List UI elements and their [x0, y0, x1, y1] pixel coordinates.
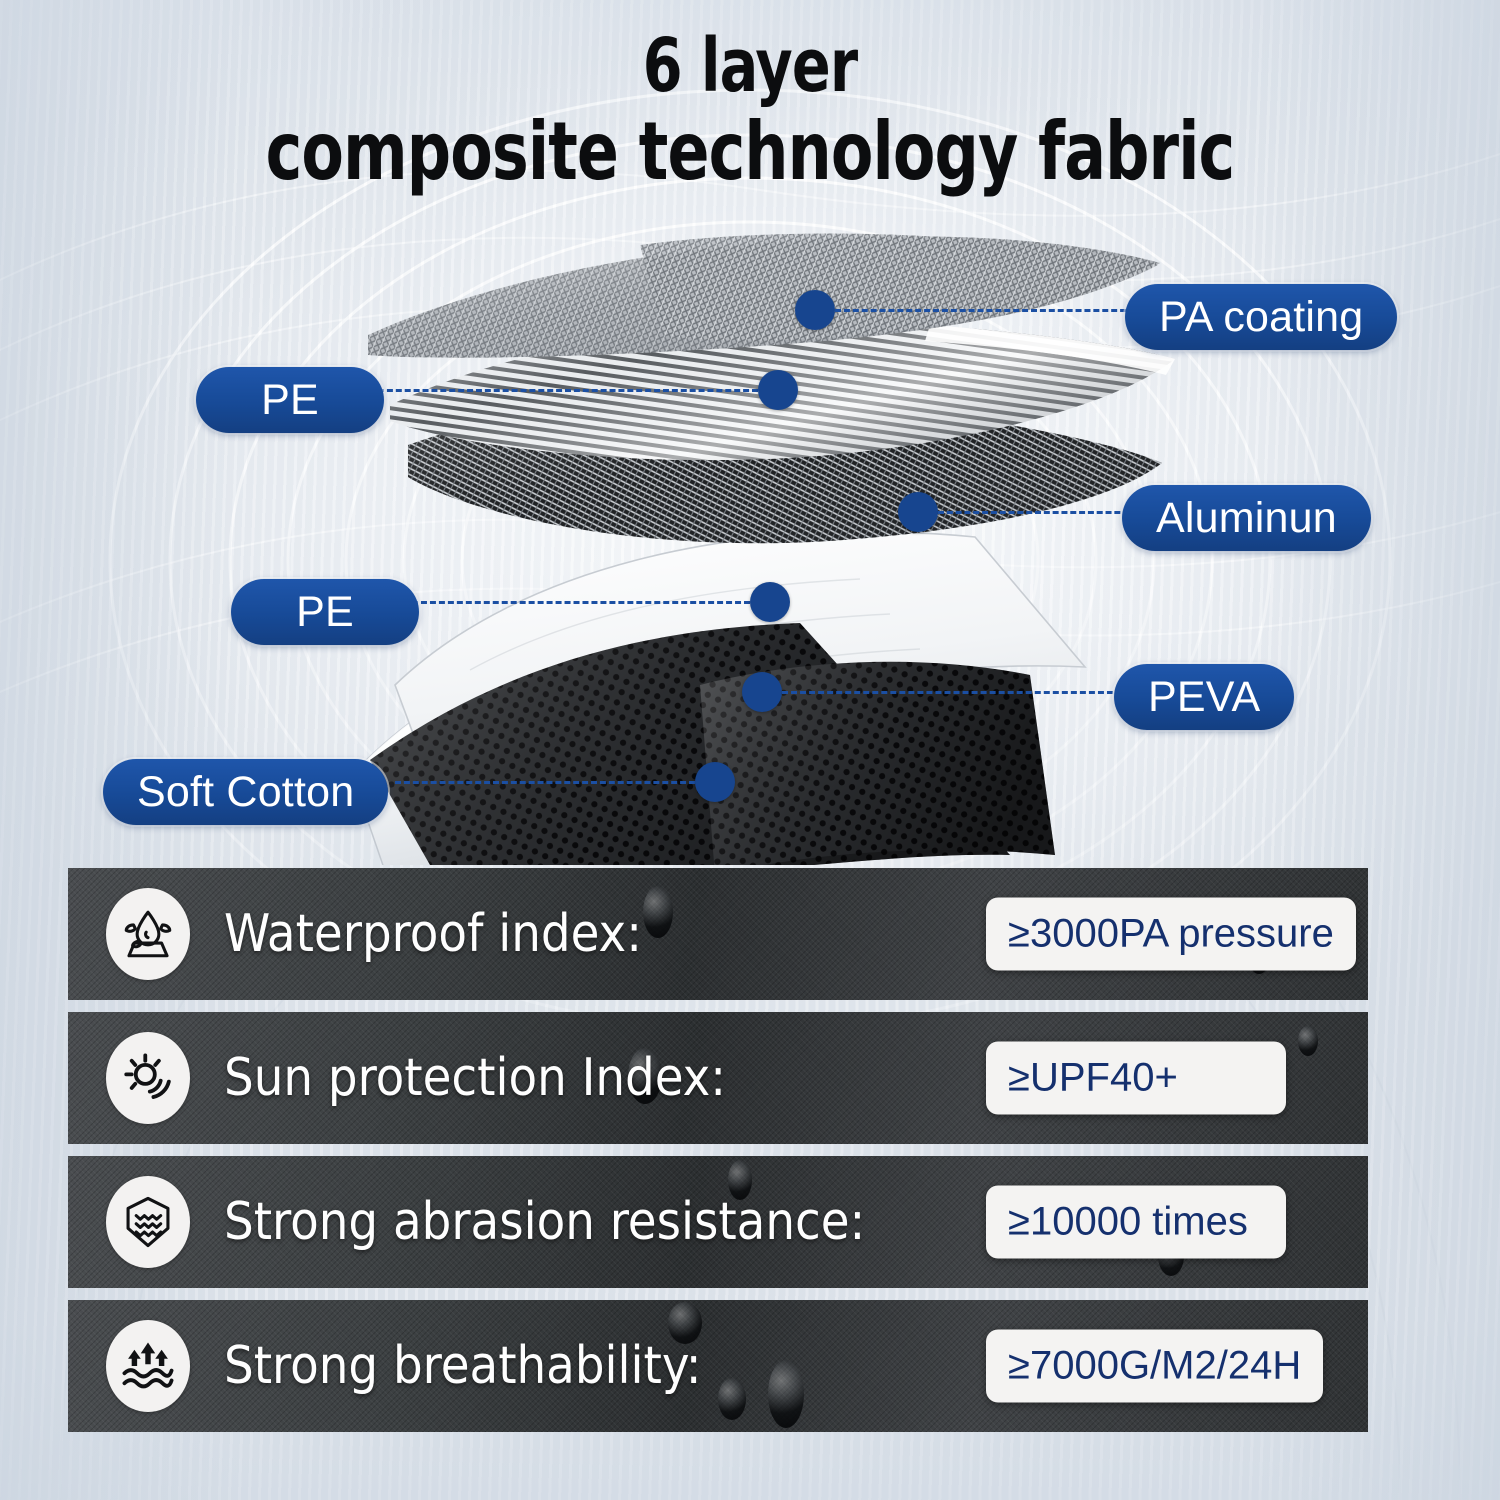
connector-dot	[795, 290, 835, 330]
feature-value-sun-protection: ≥UPF40+	[986, 1042, 1286, 1115]
page-title: 6 layer composite technology fabric	[0, 30, 1500, 191]
layer-label-soft-cotton[interactable]: Soft Cotton	[103, 759, 388, 825]
feature-value-waterproof: ≥3000PA pressure	[986, 898, 1356, 971]
connector-dash	[782, 691, 1122, 694]
connector-dot	[750, 582, 790, 622]
water-droplet-decoration	[768, 1360, 804, 1428]
connector-pe-top	[378, 383, 798, 397]
layer-label-pe-top[interactable]: PE	[196, 367, 384, 433]
infographic-canvas: 6 layer composite technology fabric	[0, 0, 1500, 1500]
callout-aluminun: Aluminun	[1122, 485, 1371, 551]
feature-label-sun-protection: Sun protection Index:	[224, 1048, 726, 1108]
connector-soft-cotton	[395, 775, 735, 789]
feature-label-breathability: Strong breathability:	[224, 1336, 702, 1396]
connector-dot	[898, 492, 938, 532]
callout-peva: PEVA	[1114, 664, 1294, 730]
feature-label-abrasion: Strong abrasion resistance:	[224, 1192, 865, 1252]
connector-dot	[695, 762, 735, 802]
feature-row-waterproof[interactable]: Waterproof index: ≥3000PA pressure	[68, 868, 1368, 1000]
title-line-1: 6 layer	[105, 30, 1395, 103]
connector-dash	[412, 601, 750, 604]
shield-waves-icon	[106, 1176, 190, 1268]
sun-uv-rays-icon	[106, 1032, 190, 1124]
water-droplet-decoration	[718, 1378, 746, 1420]
connector-dot	[742, 672, 782, 712]
connector-pa-coating	[795, 303, 1135, 317]
title-line-2: composite technology fabric	[105, 113, 1395, 191]
water-droplet-decoration	[643, 886, 673, 938]
feature-row-abrasion[interactable]: Strong abrasion resistance: ≥10000 times	[68, 1156, 1368, 1288]
layer-label-pa-coating[interactable]: PA coating	[1125, 284, 1397, 350]
layer-label-peva[interactable]: PEVA	[1114, 664, 1294, 730]
water-droplet-repel-icon	[106, 888, 190, 980]
connector-dash	[938, 511, 1138, 514]
connector-dash	[378, 389, 758, 392]
water-droplet-decoration	[1298, 1026, 1318, 1056]
feature-value-breathability: ≥7000G/M2/24H	[986, 1330, 1323, 1403]
callout-pe-bottom: PE	[231, 579, 419, 645]
connector-dot	[758, 370, 798, 410]
layer-label-pe-bottom[interactable]: PE	[231, 579, 419, 645]
connector-aluminun	[898, 505, 1138, 519]
connector-pe-bottom	[412, 595, 790, 609]
feature-label-waterproof: Waterproof index:	[224, 904, 642, 964]
connector-dash	[395, 781, 695, 784]
feature-list: Waterproof index: ≥3000PA pressure	[68, 868, 1368, 1444]
connector-dash	[835, 309, 1135, 312]
feature-value-abrasion: ≥10000 times	[986, 1186, 1286, 1259]
connector-peva	[742, 685, 1122, 699]
feature-row-sun-protection[interactable]: Sun protection Index: ≥UPF40+	[68, 1012, 1368, 1144]
callout-pe-top: PE	[196, 367, 384, 433]
callout-pa-coating: PA coating	[1125, 284, 1397, 350]
feature-row-breathability[interactable]: Strong breathability: ≥7000G/M2/24H	[68, 1300, 1368, 1432]
air-flow-arrows-icon	[106, 1320, 190, 1412]
layer-label-aluminun[interactable]: Aluminun	[1122, 485, 1371, 551]
callout-soft-cotton: Soft Cotton	[103, 759, 388, 825]
